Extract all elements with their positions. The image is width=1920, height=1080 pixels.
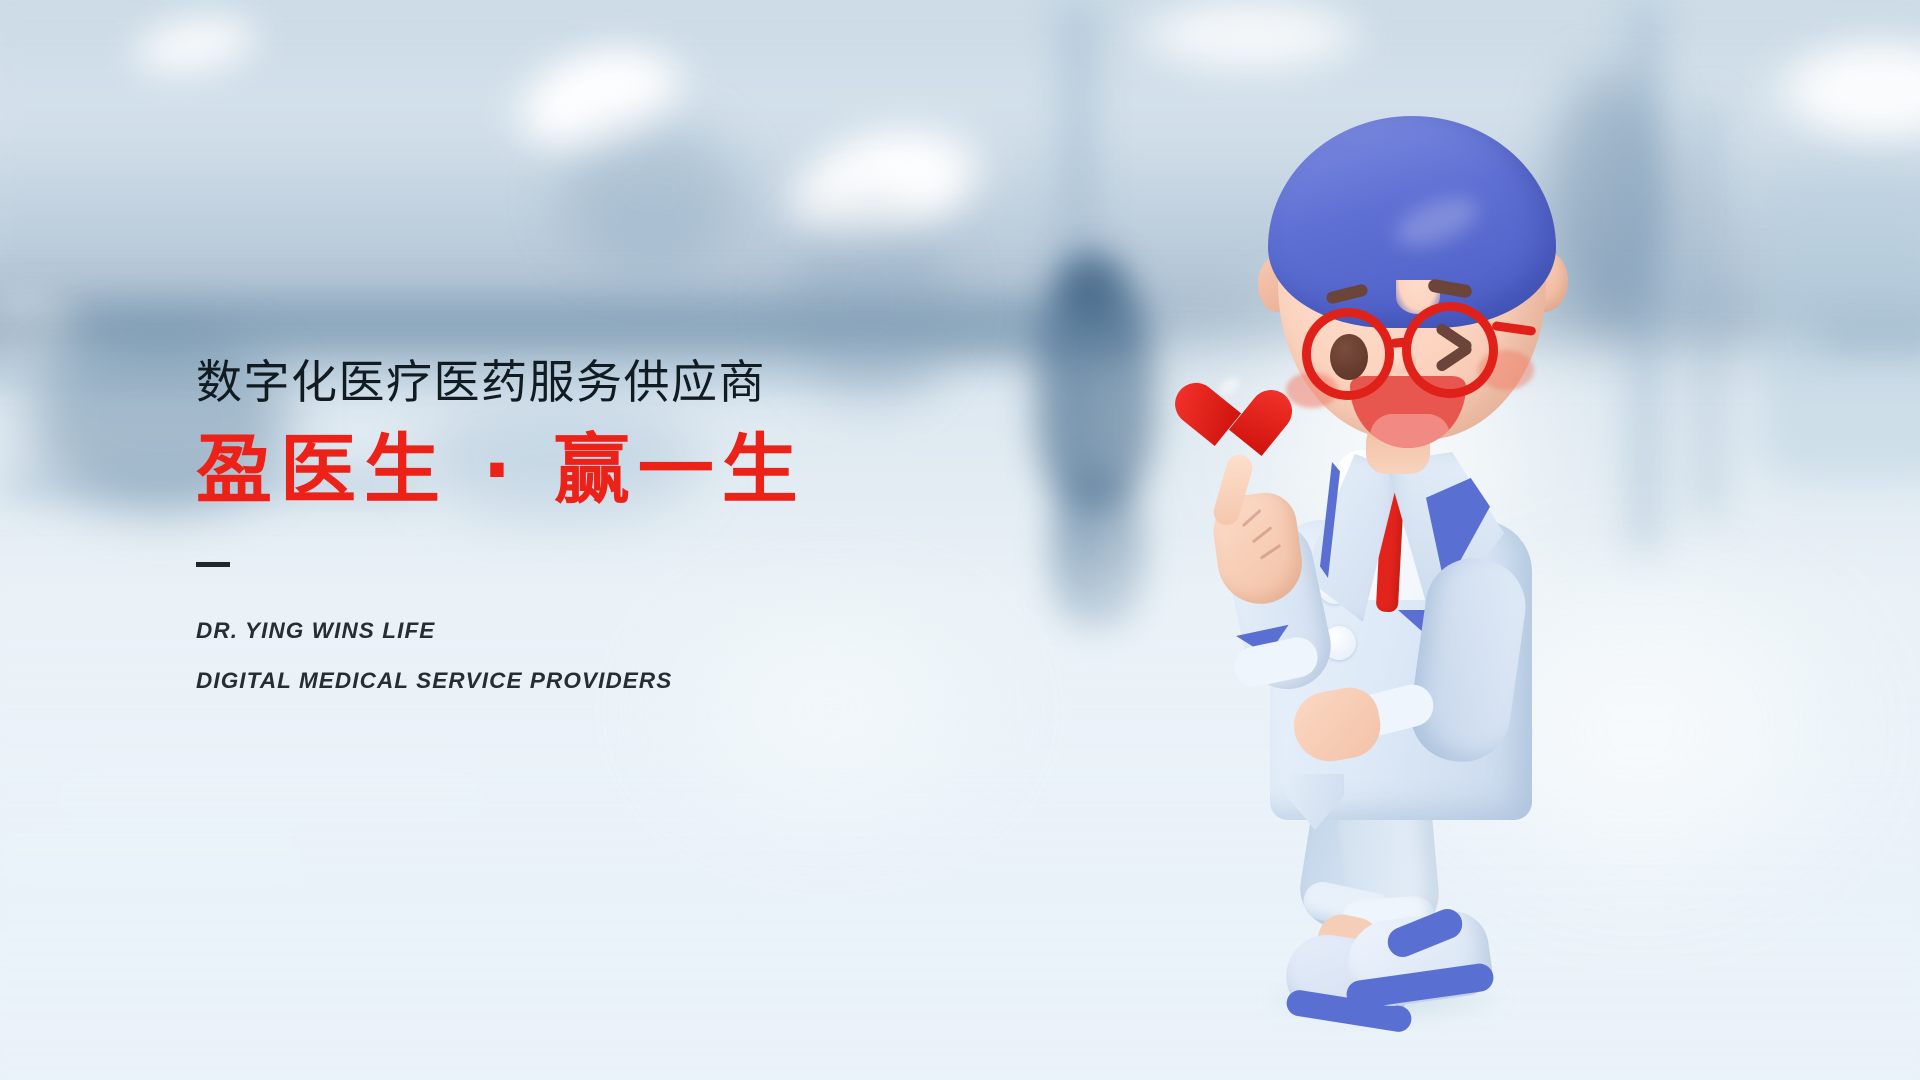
background-blur-shape — [790, 200, 950, 400]
glasses-lens-right — [1402, 302, 1498, 398]
doctor-mascot — [1190, 50, 1620, 1050]
tongue — [1370, 414, 1450, 448]
banner-stage: 数字化医疗医药服务供应商 盈医生 · 赢一生 DR. YING WINS LIF… — [0, 0, 1920, 1080]
background-blur-shape — [560, 120, 740, 270]
knuckle-line — [1260, 544, 1282, 560]
slogan: 盈医生 · 赢一生 — [196, 423, 806, 517]
ceiling-light-icon — [1760, 30, 1920, 150]
divider — [196, 562, 230, 567]
english-subtitle-line1: DR. YING WINS LIFE — [196, 613, 806, 649]
knuckle-line — [1252, 526, 1273, 543]
person-silhouette-head — [1058, 252, 1120, 322]
banner-copy: 数字化医疗医药服务供应商 盈医生 · 赢一生 DR. YING WINS LIF… — [196, 355, 806, 699]
heart-icon — [1201, 362, 1286, 440]
page-title: 数字化医疗医药服务供应商 — [196, 355, 806, 409]
window-frame — [1700, 100, 1718, 520]
window-frame — [1820, 330, 1920, 348]
english-subtitle-line2: DIGITAL MEDICAL SERVICE PROVIDERS — [196, 663, 806, 699]
heart-highlight — [1216, 374, 1242, 398]
glasses-lens-left — [1302, 308, 1394, 400]
hair-highlight — [1390, 187, 1485, 256]
knuckle-line — [1242, 509, 1262, 527]
